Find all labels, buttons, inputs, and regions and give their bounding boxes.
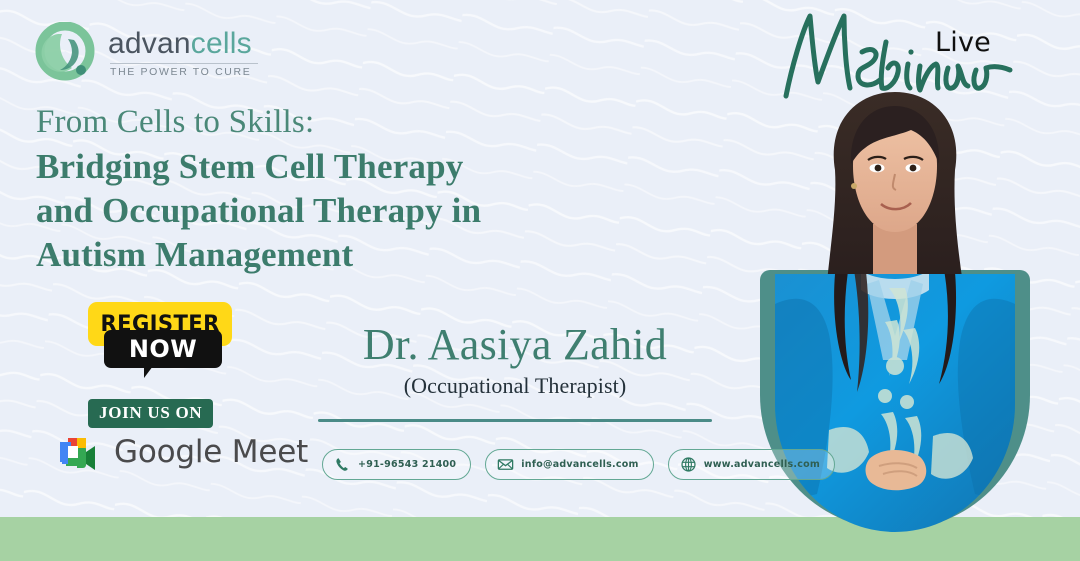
envelope-icon	[497, 456, 514, 473]
register-now-button[interactable]: REGISTER NOW	[82, 302, 252, 378]
contact-pill-group: +91-96543 21400 info@advancells.com www.…	[322, 449, 835, 480]
live-label: Live	[935, 27, 991, 58]
brand-logo[interactable]: advancells THE POWER TO CURE	[34, 22, 258, 84]
logo-wordmark-group: advancells THE POWER TO CURE	[108, 29, 258, 78]
now-label: NOW	[129, 335, 197, 363]
logo-wordmark: advancells	[108, 29, 258, 59]
logo-tagline: THE POWER TO CURE	[108, 67, 258, 78]
globe-icon	[680, 456, 697, 473]
contact-pill-website[interactable]: www.advancells.com	[668, 449, 835, 480]
now-label-bubble[interactable]: NOW	[104, 330, 222, 368]
logo-divider	[110, 63, 258, 64]
google-meet-block[interactable]: Google Meet	[56, 432, 308, 472]
logo-word-cells: cells	[191, 27, 252, 60]
contact-phone-text: +91-96543 21400	[358, 459, 456, 470]
speaker-name: Dr. Aasiya Zahid	[318, 320, 712, 369]
webinar-banner: advancells THE POWER TO CURE Live From C…	[0, 0, 1080, 561]
contact-email-text: info@advancells.com	[521, 459, 638, 470]
contact-website-text: www.advancells.com	[704, 459, 820, 470]
contact-pill-phone[interactable]: +91-96543 21400	[322, 449, 471, 480]
title-line-2: Bridging Stem Cell Therapy	[36, 145, 676, 189]
speaker-divider	[318, 419, 712, 422]
join-us-badge: JOIN US ON	[88, 399, 213, 428]
speaker-role: (Occupational Therapist)	[318, 373, 712, 399]
phone-icon	[334, 456, 351, 473]
logo-word-advan: advan	[108, 27, 191, 60]
join-us-label: JOIN US ON	[99, 403, 202, 422]
page-title: From Cells to Skills: Bridging Stem Cell…	[36, 101, 676, 278]
advancells-circle-leaf-logo	[34, 22, 96, 84]
google-meet-icon	[56, 432, 102, 472]
google-meet-label: Google Meet	[114, 434, 308, 470]
contact-pill-email[interactable]: info@advancells.com	[485, 449, 653, 480]
title-line-3: and Occupational Therapy in	[36, 189, 676, 233]
speech-bubble-tail	[144, 366, 162, 378]
title-line-4: Autism Management	[36, 233, 676, 277]
speaker-info: Dr. Aasiya Zahid (Occupational Therapist…	[318, 320, 712, 399]
title-line-1: From Cells to Skills:	[36, 101, 676, 145]
